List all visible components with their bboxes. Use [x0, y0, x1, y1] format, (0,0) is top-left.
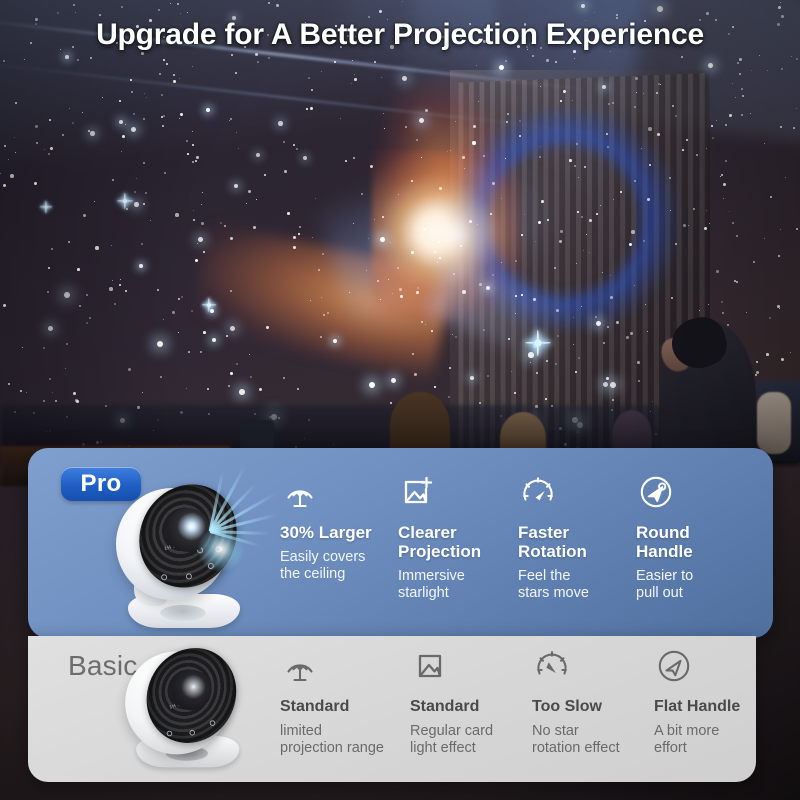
basic-feature-desc: A bit more effort	[654, 723, 756, 757]
basic-comparison-panel: Basic 1H 2H	[28, 636, 756, 782]
flat-handle-icon	[654, 646, 694, 686]
product-comparison-infographic: Upgrade for A Better Projection Experien…	[0, 0, 800, 800]
basic-feature-standard-range: Standard limited projection range	[280, 646, 398, 757]
pro-projector-image: 1H 2H	[106, 480, 306, 628]
basic-feature-desc: No star rotation effect	[532, 723, 650, 757]
basic-feature-flat-handle: Flat Handle A bit more effort	[654, 646, 756, 757]
desc-line-1: Easily covers	[280, 549, 392, 566]
pro-feature-desc: Feel the stars move	[518, 568, 636, 602]
pro-comparison-panel: Pro 1H 2H	[28, 448, 773, 638]
title-line-1: Faster	[518, 523, 636, 542]
lens-glow	[198, 526, 244, 572]
desc-line-2: projection range	[280, 740, 398, 757]
projector-base-hole	[160, 605, 206, 621]
basic-feature-standard-light: Standard Regular card light effect	[410, 646, 528, 757]
pro-feature-desc: Easily covers the ceiling	[280, 549, 392, 583]
basic-feature-title: Flat Handle	[654, 697, 756, 716]
desc-line-1: Easier to	[636, 568, 754, 585]
title-line-1: Round	[636, 523, 754, 542]
title-line-2: Handle	[636, 542, 754, 561]
pro-feature-faster-rotation: Faster Rotation Feel the stars move	[518, 472, 636, 602]
desc-line-2: starlight	[398, 585, 518, 602]
desc-line-1: Immersive	[398, 568, 518, 585]
desc-line-1: No star	[532, 723, 650, 740]
basic-feature-desc: Regular card light effect	[410, 723, 528, 757]
desc-line-1: Feel the	[518, 568, 636, 585]
pro-feature-30-larger: 30% Larger Easily covers the ceiling	[280, 472, 392, 583]
desc-line-1: A bit more	[654, 723, 756, 740]
desc-line-2: pull out	[636, 585, 754, 602]
desc-line-1: limited	[280, 723, 398, 740]
image-icon	[410, 646, 450, 686]
desc-line-2: effort	[654, 740, 756, 757]
basic-feature-title: Standard	[410, 697, 528, 716]
basic-projector-image: 1H 2H	[116, 644, 291, 767]
speedometer-icon	[532, 646, 572, 686]
pro-feature-round-handle: Round Handle Easier to pull out	[636, 472, 754, 602]
title-line-1: Clearer	[398, 523, 518, 542]
desc-line-2: rotation effect	[532, 740, 650, 757]
round-handle-icon	[636, 472, 676, 512]
basic-feature-desc: limited projection range	[280, 723, 398, 757]
pro-feature-title: Round Handle	[636, 523, 754, 561]
pro-feature-desc: Immersive starlight	[398, 568, 518, 602]
pro-feature-desc: Easier to pull out	[636, 568, 754, 602]
pro-feature-title: 30% Larger	[280, 523, 392, 542]
pro-feature-title: Faster Rotation	[518, 523, 636, 561]
desc-line-2: light effect	[410, 740, 528, 757]
title-line-2: Rotation	[518, 542, 636, 561]
basic-feature-title: Too Slow	[532, 697, 650, 716]
desc-line-1: Regular card	[410, 723, 528, 740]
basic-feature-too-slow: Too Slow No star rotation effect	[532, 646, 650, 757]
pro-feature-clearer-projection: Clearer Projection Immersive starlight	[398, 472, 518, 602]
speedometer-icon	[518, 472, 558, 512]
broadcast-tower-icon	[280, 646, 320, 686]
pro-feature-title: Clearer Projection	[398, 523, 518, 561]
broadcast-tower-icon	[280, 472, 320, 512]
page-title: Upgrade for A Better Projection Experien…	[0, 18, 800, 52]
projector-lens	[171, 670, 211, 710]
desc-line-2: stars move	[518, 585, 636, 602]
basic-feature-title: Standard	[280, 697, 398, 716]
image-plus-icon	[398, 472, 438, 512]
title-line-2: Projection	[398, 542, 518, 561]
desc-line-2: the ceiling	[280, 566, 392, 583]
